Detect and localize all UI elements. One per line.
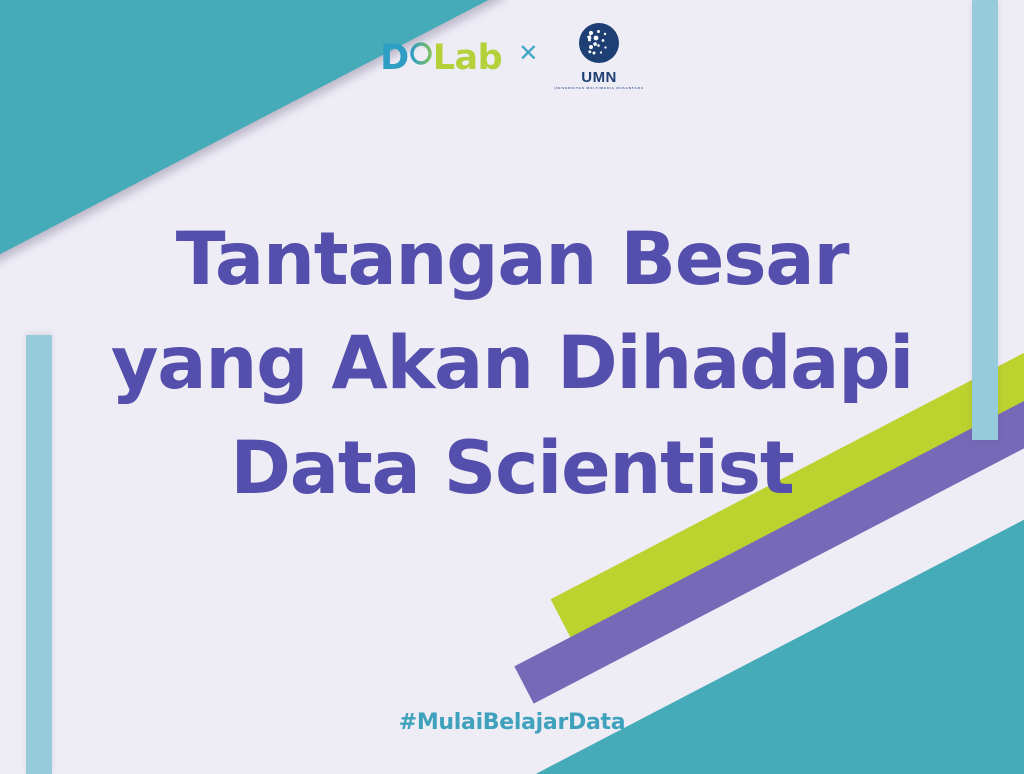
title-line-2: yang Akan Dihadapi (0, 312, 1024, 416)
dqlab-logo-word-lab: Lab (433, 41, 502, 76)
dqlab-logo[interactable]: D Lab (380, 35, 502, 76)
footer-hashtag: #MulaiBelajarData (0, 710, 1024, 735)
phi-glyph-icon (410, 35, 432, 69)
title-line-3: Data Scientist (0, 417, 1024, 521)
umn-acronym: UMN (581, 70, 617, 85)
collab-times-icon: ✕ (518, 41, 538, 65)
slide-canvas: D Lab ✕ (0, 0, 1024, 774)
umn-subtitle: UNIVERSITAS MULTIMEDIA NUSANTARA (554, 87, 644, 90)
dqlab-logo-letter-d: D (380, 41, 409, 76)
umn-logo[interactable]: UMN UNIVERSITAS MULTIMEDIA NUSANTARA (554, 22, 644, 90)
title-line-1: Tantangan Besar (0, 208, 1024, 312)
page-title: Tantangan Besar yang Akan Dihadapi Data … (0, 208, 1024, 521)
umn-globe-dots-icon (578, 22, 620, 68)
logo-lockup: D Lab ✕ (0, 22, 1024, 90)
